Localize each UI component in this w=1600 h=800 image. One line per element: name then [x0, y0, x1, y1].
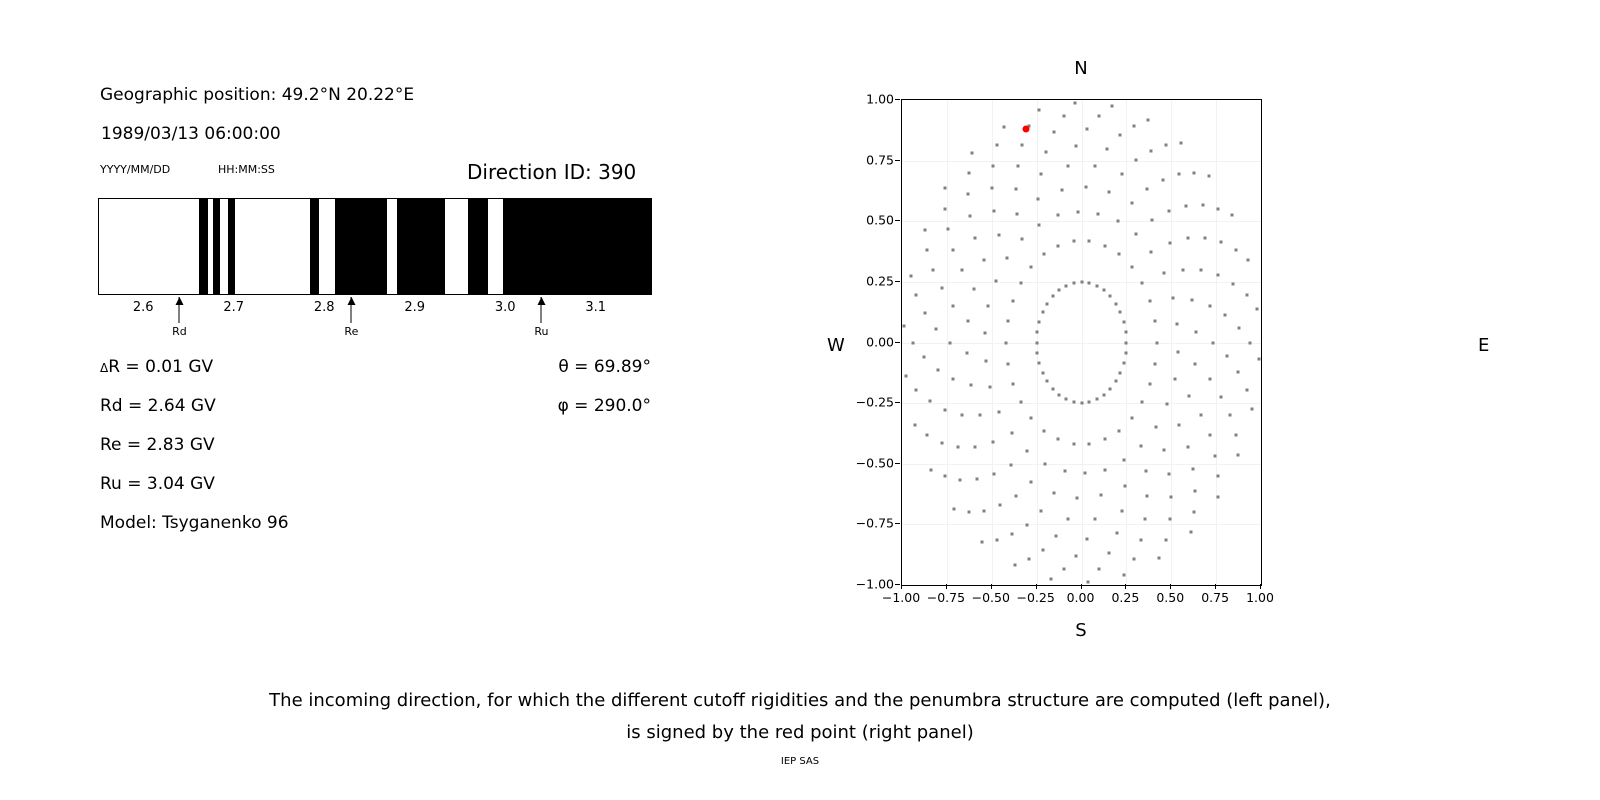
direction-point [1088, 281, 1091, 284]
direction-point [1122, 320, 1125, 323]
direction-point [1042, 429, 1045, 432]
direction-point [999, 504, 1002, 507]
delta-r-text: R = 0.01 GV [108, 357, 213, 377]
direction-point [1030, 417, 1033, 420]
x-axis-tick-mark [1081, 584, 1082, 589]
direction-point [1122, 459, 1125, 462]
gridline-horizontal [902, 524, 1261, 525]
direction-point [1072, 401, 1075, 404]
direction-id-label: Direction ID: 390 [467, 160, 636, 184]
direction-point [1084, 186, 1087, 189]
direction-point [1234, 434, 1237, 437]
direction-point [1201, 204, 1204, 207]
direction-point [967, 510, 970, 513]
direction-point [987, 305, 990, 308]
direction-point [1132, 124, 1135, 127]
direction-point [913, 423, 916, 426]
x-axis-tick-label: −0.75 [927, 590, 965, 605]
direction-point [1046, 302, 1049, 305]
right-panel: N S W E −1.00−0.75−0.50−0.250.000.250.50… [800, 0, 1600, 660]
direction-point [970, 384, 973, 387]
direction-point [1194, 489, 1197, 492]
model-value: Model: Tsyganenko 96 [100, 513, 289, 533]
figure-caption: The incoming direction, for which the di… [0, 685, 1600, 749]
direction-point [1038, 320, 1041, 323]
geographic-position-text: Geographic position: 49.2°N 20.22°E [100, 85, 414, 105]
direction-point [1049, 577, 1052, 580]
direction-point [1097, 212, 1100, 215]
y-axis-tick-mark [895, 402, 900, 403]
direction-point [1146, 188, 1149, 191]
direction-point [924, 311, 927, 314]
direction-point [1219, 241, 1222, 244]
rigidity-tick-label: 2.7 [223, 300, 244, 315]
direction-point [1107, 551, 1110, 554]
x-axis-tick-mark [1125, 584, 1126, 589]
direction-point [1103, 244, 1106, 247]
direction-point [994, 280, 997, 283]
direction-point [1037, 197, 1040, 200]
direction-point [944, 187, 947, 190]
direction-point [952, 378, 955, 381]
direction-point [965, 352, 968, 355]
direction-point [1011, 300, 1014, 303]
rigidity-marker-label-rd: Rd [172, 325, 187, 338]
direction-point [1109, 387, 1112, 390]
direction-point [1141, 401, 1144, 404]
direction-point [1006, 320, 1009, 323]
direction-point [1134, 232, 1137, 235]
direction-point [983, 509, 986, 512]
direction-point [1028, 558, 1031, 561]
gridline-horizontal [902, 343, 1261, 344]
direction-point [1042, 548, 1045, 551]
penumbra-band [310, 199, 319, 294]
direction-point [1036, 330, 1039, 333]
x-axis-tick-label: 0.00 [1067, 590, 1095, 605]
direction-point [1021, 143, 1024, 146]
direction-point [1166, 402, 1169, 405]
direction-point [1118, 134, 1121, 137]
direction-point [1149, 382, 1152, 385]
direction-point [1154, 425, 1157, 428]
direction-point [1058, 394, 1061, 397]
direction-point [997, 233, 1000, 236]
direction-point [1111, 105, 1114, 108]
direction-point [1194, 363, 1197, 366]
direction-point [960, 413, 963, 416]
direction-point [1150, 250, 1153, 253]
direction-point [1062, 568, 1065, 571]
direction-point [1040, 173, 1043, 176]
direction-point [1181, 268, 1184, 271]
rigidity-marker-label-re: Re [344, 325, 358, 338]
direction-point [983, 332, 986, 335]
direction-point [904, 374, 907, 377]
direction-point [1190, 298, 1193, 301]
penumbra-band [503, 199, 651, 294]
date-format-hint: YYYY/MM/DD [100, 163, 170, 176]
direction-point [1158, 557, 1161, 560]
direction-point [1114, 302, 1117, 305]
direction-point [952, 508, 955, 511]
penumbra-band [213, 199, 220, 294]
direction-point [1057, 244, 1060, 247]
gridline-horizontal [902, 221, 1261, 222]
direction-point [975, 477, 978, 480]
direction-point [1072, 442, 1075, 445]
direction-point [1188, 394, 1191, 397]
direction-point [1177, 423, 1180, 426]
x-axis-tick-label: −1.00 [882, 590, 920, 605]
direction-point [1002, 125, 1005, 128]
direction-point [1149, 149, 1152, 152]
y-axis-tick-label: 0.50 [866, 213, 894, 228]
time-format-hint: HH:MM:SS [218, 163, 275, 176]
direction-point [1118, 253, 1121, 256]
direction-point [1151, 219, 1154, 222]
direction-point [1072, 240, 1075, 243]
direction-point [1122, 362, 1125, 365]
x-axis-tick-label: 0.50 [1156, 590, 1184, 605]
direction-point [1256, 308, 1259, 311]
x-axis-tick-mark [1215, 584, 1216, 589]
direction-point [935, 327, 938, 330]
direction-point [1208, 433, 1211, 436]
penumbra-band [397, 199, 445, 294]
rigidity-tick-label: 3.1 [585, 300, 606, 315]
direction-point [1011, 533, 1014, 536]
direction-point [992, 441, 995, 444]
direction-point [1055, 534, 1058, 537]
direction-point [1088, 442, 1091, 445]
penumbra-band [468, 199, 488, 294]
direction-point [1119, 311, 1122, 314]
direction-point [1247, 259, 1250, 262]
direction-point [1011, 382, 1014, 385]
direction-point [1216, 495, 1219, 498]
direction-point [1220, 395, 1223, 398]
direction-point [1010, 432, 1013, 435]
direction-point [1109, 295, 1112, 298]
direction-point [1009, 463, 1012, 466]
direction-point [1041, 311, 1044, 314]
direction-point [1053, 131, 1056, 134]
direction-point [992, 209, 995, 212]
compass-label-north: N [1074, 58, 1087, 79]
direction-point [940, 287, 943, 290]
selected-direction-marker[interactable] [1022, 126, 1029, 133]
direction-point [1102, 288, 1105, 291]
direction-point [1123, 485, 1126, 488]
direction-point [1120, 509, 1123, 512]
direction-point [943, 475, 946, 478]
direction-point [966, 193, 969, 196]
direction-point [981, 540, 984, 543]
direction-point [1037, 108, 1040, 111]
direction-point [1200, 269, 1203, 272]
direction-point [1016, 164, 1019, 167]
direction-point [1057, 214, 1060, 217]
direction-point [1168, 473, 1171, 476]
direction-point [1161, 178, 1164, 181]
direction-point [1062, 114, 1065, 117]
direction-point [1051, 387, 1054, 390]
direction-point [996, 144, 999, 147]
direction-point [1146, 494, 1149, 497]
direction-point [1179, 142, 1182, 145]
direction-point [909, 275, 912, 278]
direction-point [1095, 398, 1098, 401]
direction-point [1168, 209, 1171, 212]
direction-point [1094, 517, 1097, 520]
direction-point [1020, 238, 1023, 241]
direction-point [911, 341, 914, 344]
direction-point [1100, 494, 1103, 497]
direction-point [1085, 537, 1088, 540]
direction-point [1114, 380, 1117, 383]
penumbra-band [335, 199, 387, 294]
direction-point [1173, 377, 1176, 380]
direction-point [1058, 288, 1061, 291]
x-axis-tick-label: −0.25 [1016, 590, 1054, 605]
direction-point [1130, 202, 1133, 205]
direction-point [1176, 323, 1179, 326]
direction-point [1005, 341, 1008, 344]
x-axis-tick-mark [1170, 584, 1171, 589]
direction-point [1074, 101, 1077, 104]
direction-point [1123, 574, 1126, 577]
direction-point [1042, 253, 1045, 256]
y-axis-tick-label: 0.25 [866, 273, 894, 288]
direction-point [929, 468, 932, 471]
direction-point [1095, 284, 1098, 287]
gridline-horizontal [902, 161, 1261, 162]
datetime-text: 1989/03/13 06:00:00 [101, 124, 281, 144]
x-axis-tick-label: 1.00 [1246, 590, 1274, 605]
left-panel: Geographic position: 49.2°N 20.22°E 1989… [0, 0, 800, 660]
direction-point [1125, 341, 1128, 344]
direction-point [1224, 314, 1227, 317]
direction-point [972, 288, 975, 291]
y-axis-tick-mark [895, 523, 900, 524]
direction-point [1234, 248, 1237, 251]
rigidity-axis: 2.62.72.82.93.03.1RdReRu [98, 295, 652, 355]
direction-point [1203, 237, 1206, 240]
direction-point [1051, 295, 1054, 298]
direction-point [1046, 380, 1049, 383]
direction-point [1154, 362, 1157, 365]
direction-point [1065, 284, 1068, 287]
direction-point [1185, 205, 1188, 208]
direction-point [966, 319, 969, 322]
direction-point [1211, 341, 1214, 344]
direction-point [1014, 188, 1017, 191]
y-axis-tick-label: 1.00 [866, 92, 894, 107]
direction-point [1035, 341, 1038, 344]
direction-point [1075, 145, 1078, 148]
direction-point [992, 164, 995, 167]
direction-point [1186, 237, 1189, 240]
direction-point [1074, 554, 1077, 557]
direction-point [1217, 475, 1220, 478]
direction-point [1191, 467, 1194, 470]
direction-point [1013, 564, 1016, 567]
direction-point [1036, 352, 1039, 355]
direction-point [1228, 414, 1231, 417]
direction-point [952, 304, 955, 307]
direction-point [1232, 282, 1235, 285]
direction-point [1189, 530, 1192, 533]
x-axis-tick-mark [991, 584, 992, 589]
direction-point [1086, 581, 1089, 584]
direction-point [1251, 407, 1254, 410]
y-axis-tick-mark [895, 584, 900, 585]
direction-point [1124, 330, 1127, 333]
direction-point [1168, 241, 1171, 244]
direction-point [1214, 454, 1217, 457]
direction-point [1066, 517, 1069, 520]
y-axis-tick-mark [895, 220, 900, 221]
y-axis-tick-mark [895, 342, 900, 343]
rigidity-marker-arrow-re [351, 297, 352, 323]
x-axis-tick-mark [1036, 584, 1037, 589]
direction-point [1149, 300, 1152, 303]
direction-point [1057, 438, 1060, 441]
direction-point [1171, 296, 1174, 299]
y-axis-tick-label: −0.50 [856, 455, 894, 470]
y-axis-tick-mark [895, 160, 900, 161]
direction-point [946, 228, 949, 231]
direction-point [1217, 274, 1220, 277]
direction-point [1130, 417, 1133, 420]
direction-point [1154, 320, 1157, 323]
direction-point [1103, 438, 1106, 441]
direction-point [1105, 148, 1108, 151]
direction-point [1170, 496, 1173, 499]
direction-point [967, 172, 970, 175]
rigidity-tick-label: 2.9 [404, 300, 425, 315]
direction-point [1200, 413, 1203, 416]
direction-point [926, 248, 929, 251]
rd-value: Rd = 2.64 GV [100, 396, 216, 416]
compass-label-west: W [827, 335, 845, 356]
direction-point [1120, 173, 1123, 176]
direction-point [1026, 450, 1029, 453]
caption-line-1: The incoming direction, for which the di… [0, 685, 1600, 717]
y-axis-tick-label: 0.00 [866, 334, 894, 349]
direction-point [1019, 281, 1022, 284]
direction-point [1094, 165, 1097, 168]
rigidity-tick-label: 2.8 [314, 300, 335, 315]
y-axis-tick-label: 0.75 [866, 152, 894, 167]
direction-point [923, 228, 926, 231]
direction-point [959, 478, 962, 481]
direction-point [1130, 265, 1133, 268]
penumbra-band [199, 199, 208, 294]
direction-point [1186, 445, 1189, 448]
delta-r-value: ΔR = 0.01 GV [100, 357, 213, 377]
direction-point [1088, 240, 1091, 243]
y-axis-tick-mark [895, 463, 900, 464]
sky-map-plot-area [901, 99, 1262, 586]
rigidity-marker-arrow-rd [179, 297, 180, 323]
direction-point [1118, 429, 1121, 432]
direction-point [936, 368, 939, 371]
footer-credit: IEP SAS [0, 756, 1600, 767]
x-axis-tick-label: −0.50 [972, 590, 1010, 605]
direction-point [992, 473, 995, 476]
direction-point [1116, 220, 1119, 223]
x-axis-tick-mark [901, 584, 902, 589]
direction-point [941, 441, 944, 444]
direction-point [1060, 188, 1063, 191]
direction-point [1144, 470, 1147, 473]
direction-point [989, 386, 992, 389]
direction-point [1238, 326, 1241, 329]
x-axis-tick-mark [946, 584, 947, 589]
direction-point [1006, 362, 1009, 365]
direction-point [1019, 401, 1022, 404]
penumbra-band [228, 199, 234, 294]
direction-point [1045, 150, 1048, 153]
direction-point [960, 269, 963, 272]
direction-point [932, 268, 935, 271]
direction-point [1006, 257, 1009, 260]
y-axis-tick-mark [895, 99, 900, 100]
direction-point [1041, 371, 1044, 374]
direction-point [1164, 144, 1167, 147]
direction-point [1040, 509, 1043, 512]
direction-point [1103, 468, 1106, 471]
direction-point [1030, 480, 1033, 483]
rigidity-tick-label: 3.0 [495, 300, 516, 315]
direction-point [1080, 402, 1083, 405]
direction-point [1177, 173, 1180, 176]
gridline-horizontal [902, 464, 1261, 465]
direction-point [1162, 272, 1165, 275]
direction-point [1080, 280, 1083, 283]
direction-point [943, 408, 946, 411]
direction-point [998, 410, 1001, 413]
caption-line-2: is signed by the red point (right panel) [0, 717, 1600, 749]
x-axis-tick-label: 0.25 [1111, 590, 1139, 605]
direction-point [1249, 341, 1252, 344]
direction-point [1124, 352, 1127, 355]
rigidity-marker-label-ru: Ru [534, 325, 548, 338]
direction-point [1134, 159, 1137, 162]
y-axis-tick-label: −0.25 [856, 395, 894, 410]
direction-point [1083, 472, 1086, 475]
direction-point [1237, 454, 1240, 457]
direction-point [1225, 355, 1228, 358]
direction-point [1195, 330, 1198, 333]
direction-point [1088, 401, 1091, 404]
direction-point [1115, 532, 1118, 535]
direction-point [952, 249, 955, 252]
direction-point [1245, 294, 1248, 297]
direction-point [1147, 118, 1150, 121]
direction-point [1257, 358, 1260, 361]
direction-point [979, 414, 982, 417]
y-axis-tick-mark [895, 281, 900, 282]
direction-point [1155, 341, 1158, 344]
direction-point [1098, 568, 1101, 571]
direction-point [1141, 281, 1144, 284]
direction-point [943, 207, 946, 210]
delta-symbol: Δ [100, 361, 108, 375]
direction-point [984, 359, 987, 362]
